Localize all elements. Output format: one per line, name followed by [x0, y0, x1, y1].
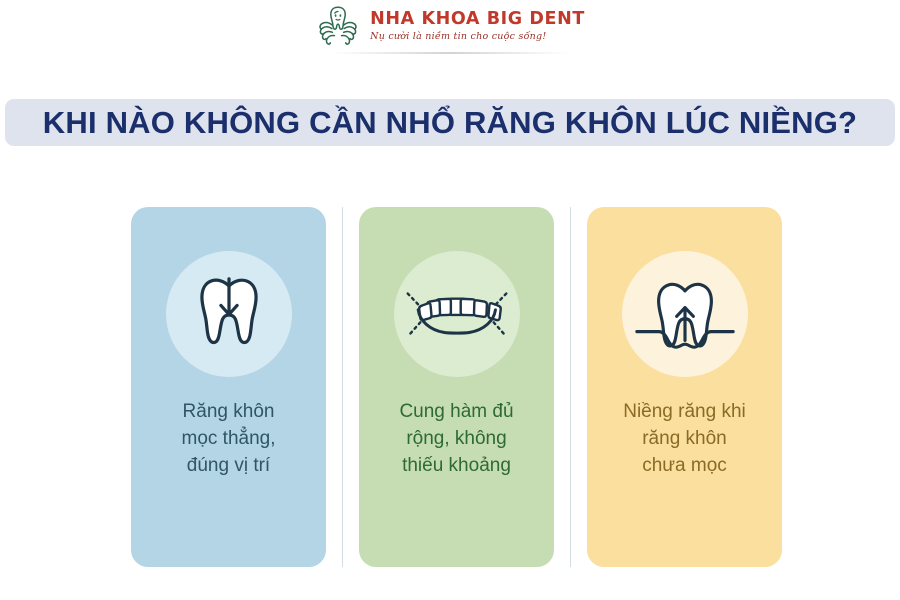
card-braces-before-eruption[interactable]: Niềng răng khi răng khôn chưa mọc	[587, 207, 782, 567]
card-wisdom-tooth-straight[interactable]: Răng khôn mọc thẳng, đúng vị trí	[131, 207, 326, 567]
card-label: Cung hàm đủ rộng, không thiếu khoảng	[383, 399, 529, 480]
card-label-line-3: thiếu khoảng	[399, 453, 513, 480]
card-label-line-2: răng khôn	[623, 426, 746, 453]
tooth-erupting-up-arrow-icon	[635, 270, 735, 359]
brand-logo-bar: NHA KHOA BIG DENT Nụ cười là niềm tin ch…	[0, 0, 900, 58]
card-label-line-3: chưa mọc	[623, 453, 746, 480]
brand-tagline: Nụ cười là niềm tin cho cuộc sống!	[370, 32, 585, 42]
icon-circle	[166, 251, 292, 377]
card-label: Niềng răng khi răng khôn chưa mọc	[607, 399, 762, 480]
card-label: Răng khôn mọc thẳng, đúng vị trí	[166, 399, 292, 480]
logo-underline-divider	[330, 52, 570, 54]
card-label-line-2: mọc thẳng,	[182, 426, 276, 453]
cards-row: Răng khôn mọc thẳng, đúng vị trí	[131, 207, 788, 567]
icon-circle	[622, 251, 748, 377]
card-label-line-2: rộng, không	[399, 426, 513, 453]
icon-circle	[394, 251, 520, 377]
dental-arch-expand-icon	[405, 285, 509, 343]
card-label-line-1: Niềng răng khi	[623, 399, 746, 426]
brand-name: NHA KHOA BIG DENT	[370, 11, 585, 29]
tooth-down-arrow-icon	[191, 272, 267, 356]
title-banner: KHI NÀO KHÔNG CẦN NHỔ RĂNG KHÔN LÚC NIỀN…	[5, 99, 895, 146]
brand-logo: NHA KHOA BIG DENT Nụ cười là niềm tin ch…	[315, 4, 585, 48]
page-title: KHI NÀO KHÔNG CẦN NHỔ RĂNG KHÔN LÚC NIỀN…	[43, 105, 857, 141]
tooth-in-hands-icon	[315, 4, 361, 48]
card-arch-wide-enough[interactable]: Cung hàm đủ rộng, không thiếu khoảng	[359, 207, 554, 567]
card-divider-2	[554, 207, 587, 567]
card-label-line-1: Răng khôn	[182, 399, 276, 426]
card-label-line-3: đúng vị trí	[182, 453, 276, 480]
card-divider-1	[326, 207, 359, 567]
brand-text-block: NHA KHOA BIG DENT Nụ cười là niềm tin ch…	[370, 11, 585, 41]
card-label-line-1: Cung hàm đủ	[399, 399, 513, 426]
